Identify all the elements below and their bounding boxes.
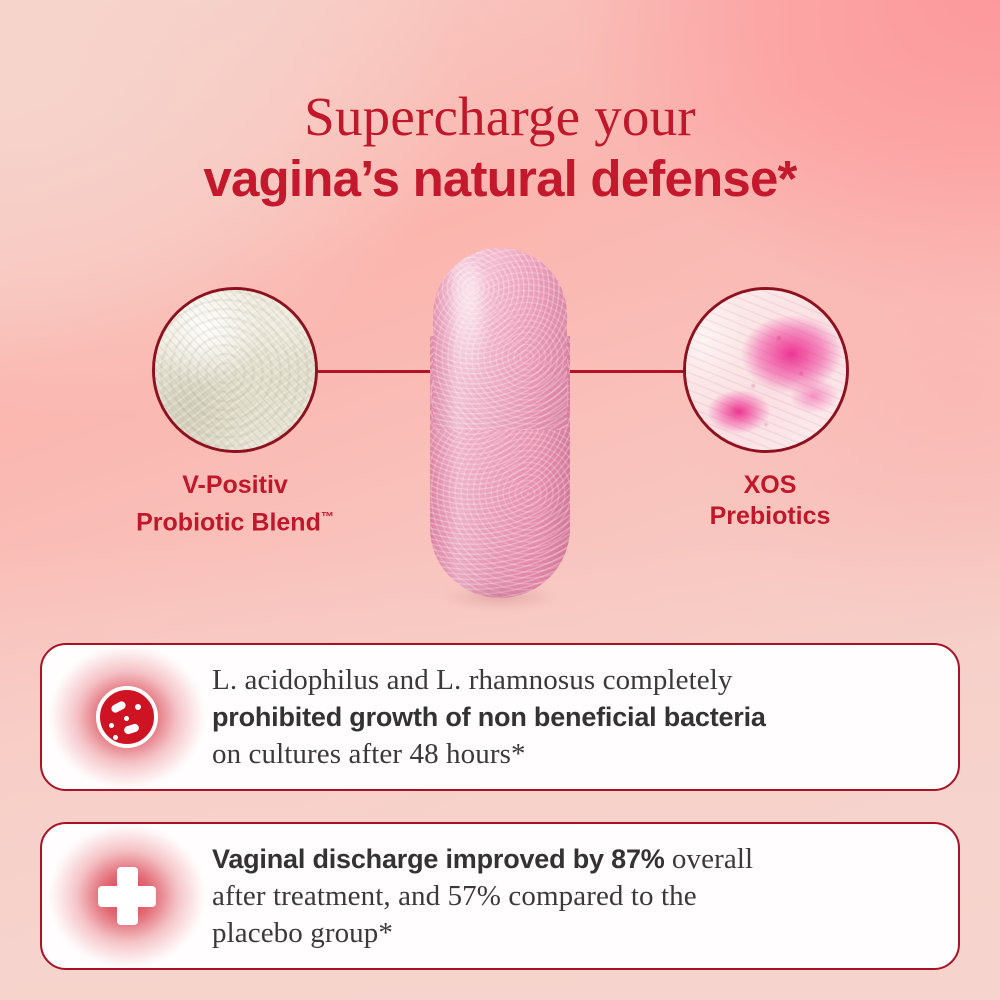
medical-cross-icon — [98, 867, 156, 925]
bacteria-rod — [123, 723, 140, 735]
callout-label-prebiotic-line2: Prebiotics — [640, 501, 900, 532]
stat-card-bacteria-line-1: L. acidophilus and L. rhamnosus complete… — [212, 662, 918, 699]
callout-label-probiotic-line1: V-Positiv — [95, 470, 375, 501]
bacteria-dot — [109, 723, 114, 728]
headline-line-1: Supercharge your — [0, 86, 1000, 148]
stat-card-discharge-line-1: Vaginal discharge improved by 87% overal… — [212, 841, 918, 878]
stat-card-bacteria-icon-wrap — [42, 643, 212, 791]
headline: Supercharge your vagina’s natural defens… — [0, 86, 1000, 208]
hero-product-section — [0, 230, 1000, 630]
bacteria-dot — [135, 704, 141, 710]
callout-label-prebiotic: XOS Prebiotics — [640, 470, 900, 532]
stat-card-discharge-emphasis: Vaginal discharge improved by 87% — [212, 844, 665, 874]
trademark-symbol: ™ — [321, 509, 334, 524]
callout-label-probiotic-text: Probiotic Blend — [136, 508, 321, 536]
stat-card-discharge-line-1-rest: overall — [665, 843, 754, 875]
headline-line-2: vagina’s natural defense* — [0, 150, 1000, 208]
callout-label-probiotic-line2: Probiotic Blend™ — [95, 501, 375, 538]
stat-card-discharge: Vaginal discharge improved by 87% overal… — [40, 822, 960, 970]
bacteria-dot — [124, 716, 129, 721]
stat-card-bacteria-emphasis: prohibited growth of non beneficial bact… — [212, 702, 766, 732]
callout-label-prebiotic-line1: XOS — [640, 470, 900, 501]
stat-card-bacteria-text: L. acidophilus and L. rhamnosus complete… — [212, 662, 958, 773]
bacteria-rod — [110, 700, 127, 714]
stat-card-discharge-line-3: placebo group* — [212, 915, 918, 952]
cross-vertical-bar — [117, 867, 138, 925]
stat-card-discharge-line-2: after treatment, and 57% compared to the — [212, 878, 918, 915]
stat-card-bacteria-line-3: on cultures after 48 hours* — [212, 736, 918, 773]
stat-card-bacteria-line-2: prohibited growth of non beneficial bact… — [212, 699, 918, 736]
callout-label-probiotic: V-Positiv Probiotic Blend™ — [95, 470, 375, 538]
product-marketing-image: Supercharge your vagina’s natural defens… — [0, 0, 1000, 1000]
bacteria-dot — [113, 735, 118, 740]
stat-card-bacteria: L. acidophilus and L. rhamnosus complete… — [40, 643, 960, 791]
stat-card-discharge-icon-wrap — [42, 822, 212, 970]
stat-card-discharge-text: Vaginal discharge improved by 87% overal… — [212, 841, 958, 952]
bacteria-petri-dish-icon — [96, 686, 158, 748]
